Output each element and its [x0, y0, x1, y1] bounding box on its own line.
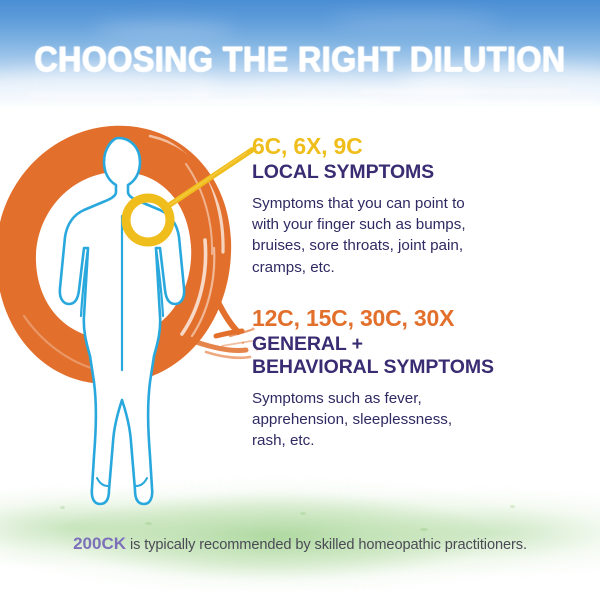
cloud-shape — [330, 14, 500, 28]
infographic-poster: CHOOSING THE RIGHT DILUTION — [0, 0, 600, 600]
body-line: bruises, sore throats, joint pain, — [252, 235, 582, 256]
heading-line: LOCAL SYMPTOMS — [252, 161, 582, 184]
ground-speck — [420, 528, 428, 531]
symptom-block-general: 12C, 15C, 30C, 30X GENERAL + BEHAVIORAL … — [252, 306, 582, 452]
cloud-wisp — [455, 101, 595, 104]
ground-speck — [300, 512, 306, 515]
block-heading-general: GENERAL + BEHAVIORAL SYMPTOMS — [252, 333, 582, 379]
cloud-wisp — [150, 100, 380, 103]
footer-note: 200CK is typically recommended by skille… — [0, 534, 600, 554]
symptom-block-local: 6C, 6X, 9C LOCAL SYMPTOMS Symptoms that … — [252, 134, 582, 278]
body-line: cramps, etc. — [252, 257, 582, 278]
header-sky-band: CHOOSING THE RIGHT DILUTION — [0, 0, 600, 108]
heading-line: GENERAL + — [252, 333, 582, 356]
body-line: rash, etc. — [252, 430, 582, 451]
body-line: Symptoms that you can point to — [252, 193, 582, 214]
cloud-wisp — [30, 93, 210, 96]
block-body-local: Symptoms that you can point to with your… — [252, 193, 582, 278]
ground-speck — [510, 505, 515, 508]
body-line: apprehension, sleeplessness, — [252, 409, 582, 430]
cloud-shape — [95, 22, 235, 38]
cloud-wisp — [360, 90, 570, 93]
content-column: 6C, 6X, 9C LOCAL SYMPTOMS Symptoms that … — [252, 134, 582, 452]
illustration-artwork — [0, 120, 270, 520]
heading-line: BEHAVIORAL SYMPTOMS — [252, 356, 582, 379]
block-heading-local: LOCAL SYMPTOMS — [252, 161, 582, 184]
body-line: with your finger such as bumps, — [252, 214, 582, 235]
page-title: CHOOSING THE RIGHT DILUTION — [24, 42, 576, 77]
body-line: Symptoms such as fever, — [252, 388, 582, 409]
footer-note-text: is typically recommended by skilled home… — [126, 537, 527, 553]
footer-strong-label: 200CK — [73, 534, 126, 553]
dilution-values-local: 6C, 6X, 9C — [252, 134, 582, 159]
ground-speck — [145, 522, 152, 525]
block-body-general: Symptoms such as fever, apprehension, sl… — [252, 388, 582, 452]
dilution-values-general: 12C, 15C, 30C, 30X — [252, 306, 582, 331]
